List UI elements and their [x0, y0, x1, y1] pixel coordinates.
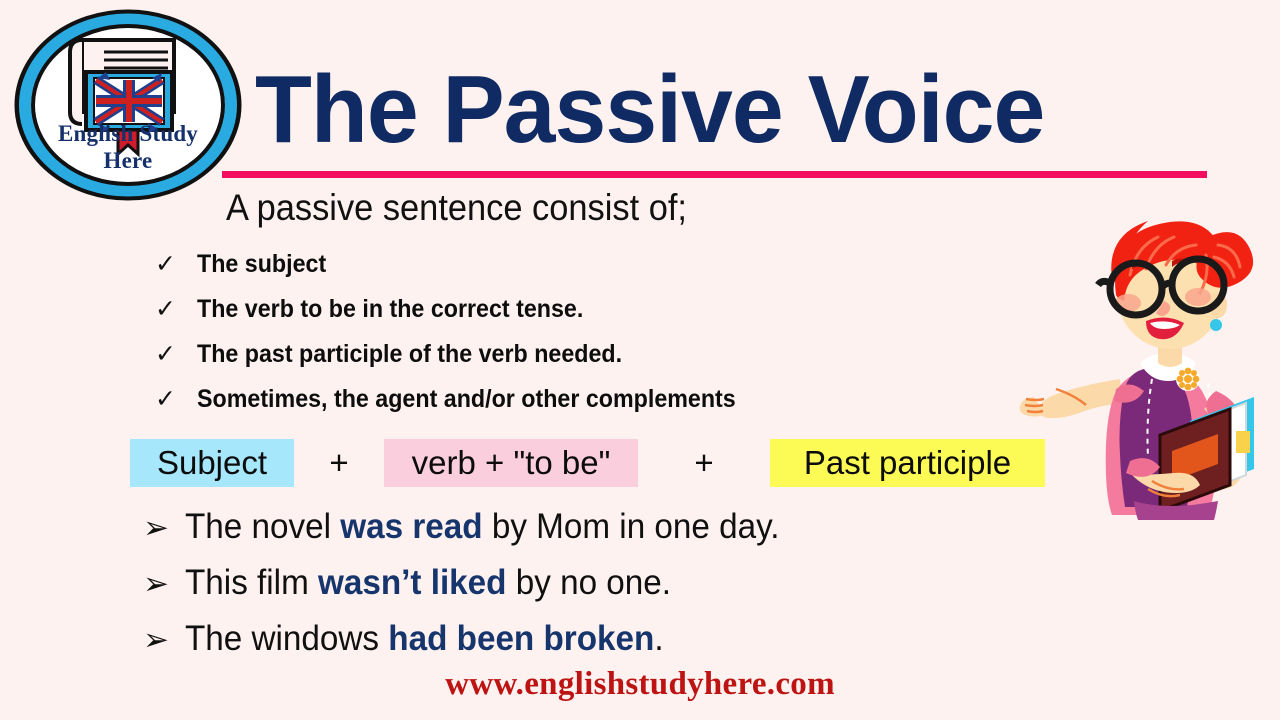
chip-subject: Subject — [130, 439, 294, 487]
example-suffix: by no one. — [506, 563, 671, 602]
english-study-here-logo: English Study Here — [12, 8, 244, 203]
arrow-bullet-icon: ➢ — [143, 507, 185, 549]
arrow-bullet-icon: ➢ — [143, 619, 185, 661]
example-prefix: The windows — [185, 619, 388, 658]
chip-past-participle: Past participle — [770, 439, 1045, 487]
checklist-item-label: Sometimes, the agent and/or other comple… — [197, 382, 736, 416]
check-icon: ✓ — [155, 337, 197, 371]
website-url: www.englishstudyhere.com — [0, 666, 1280, 703]
checklist-item-label: The verb to be in the correct tense. — [197, 292, 583, 326]
chip-verb-to-be: verb + "to be" — [384, 439, 638, 487]
plus-operator: + — [638, 444, 770, 482]
example-prefix: The novel — [185, 507, 340, 546]
infographic-page: English Study Here The Passive Voice A p… — [0, 0, 1280, 720]
passive-formula-row: Subject + verb + "to be" + Past particip… — [130, 438, 1045, 488]
example-prefix: This film — [185, 563, 318, 602]
logo-text-line1: English Study — [12, 120, 244, 147]
intro-text: A passive sentence consist of; — [226, 186, 687, 230]
example-highlight: was read — [340, 507, 482, 546]
example-sentence: The windows had been broken. — [185, 617, 664, 661]
example-sentence: The novel was read by Mom in one day. — [185, 505, 780, 549]
page-title: The Passive Voice — [255, 58, 1186, 162]
example-suffix: by Mom in one day. — [483, 507, 780, 546]
check-icon: ✓ — [155, 382, 197, 416]
list-item: ✓ The past participle of the verb needed… — [155, 337, 1055, 382]
check-icon: ✓ — [155, 292, 197, 326]
example-suffix: . — [654, 619, 663, 658]
examples-list: ➢ The novel was read by Mom in one day. … — [143, 505, 1123, 673]
example-highlight: had been broken — [388, 619, 654, 658]
checklist-item-label: The past participle of the verb needed. — [197, 337, 622, 371]
logo-text-line2: Here — [12, 147, 244, 174]
title-underline-rule — [222, 171, 1207, 178]
list-item: ➢ The novel was read by Mom in one day. — [143, 505, 1123, 561]
arrow-bullet-icon: ➢ — [143, 563, 185, 605]
example-highlight: wasn’t liked — [318, 563, 506, 602]
check-icon: ✓ — [155, 247, 197, 281]
list-item: ✓ Sometimes, the agent and/or other comp… — [155, 382, 1055, 427]
list-item: ➢ The windows had been broken. — [143, 617, 1123, 673]
checklist-item-label: The subject — [197, 247, 326, 281]
list-item: ➢ This film wasn’t liked by no one. — [143, 561, 1123, 617]
teacher-with-books-illustration — [1012, 183, 1280, 520]
list-item: ✓ The subject — [155, 247, 1055, 292]
plus-operator: + — [294, 444, 384, 482]
list-item: ✓ The verb to be in the correct tense. — [155, 292, 1055, 337]
checklist: ✓ The subject ✓ The verb to be in the co… — [155, 247, 1055, 427]
logo-text: English Study Here — [12, 120, 244, 174]
example-sentence: This film wasn’t liked by no one. — [185, 561, 671, 605]
